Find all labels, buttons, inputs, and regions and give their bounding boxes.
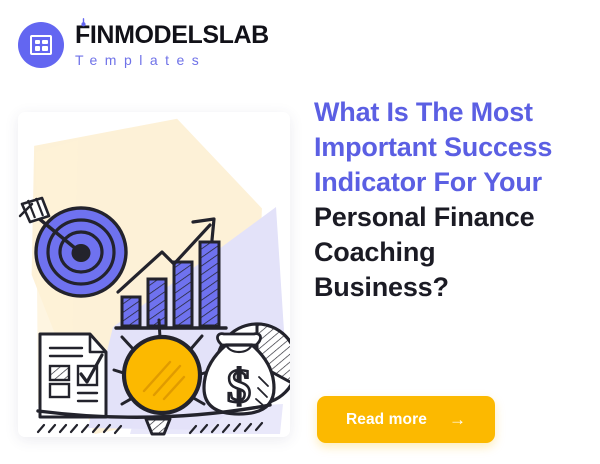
logo-mark — [18, 22, 64, 68]
svg-text:$: $ — [227, 360, 251, 413]
business-analytics-illustration: $ — [18, 112, 290, 437]
brand-text: FINMODELSLAB Templates — [75, 23, 269, 67]
headline-accent-line-3: Indicator For Your — [314, 165, 580, 200]
read-more-button[interactable]: Read more → — [317, 396, 495, 443]
brand-logo[interactable]: FINMODELSLAB Templates — [18, 22, 269, 68]
banner-page: FINMODELSLAB Templates — [0, 0, 600, 464]
document-checklist-icon — [40, 334, 106, 417]
read-more-label: Read more — [346, 411, 427, 429]
page-title: What Is The Most Important Success Indic… — [314, 95, 580, 306]
headline-accent-line-1: What Is The Most — [314, 95, 580, 130]
gold-coin-icon — [124, 337, 200, 413]
brand-tagline: Templates — [75, 53, 269, 67]
illustration-card: $ — [18, 112, 290, 437]
grid-icon — [30, 35, 52, 55]
headline-dark-line-2: Coaching — [314, 235, 580, 270]
brand-name: FINMODELSLAB — [75, 23, 269, 48]
arrow-right-icon: → — [449, 411, 466, 428]
headline-accent-line-2: Important Success — [314, 130, 580, 165]
headline-dark-line-1: Personal Finance — [314, 200, 580, 235]
headline-dark-line-3: Business? — [314, 270, 580, 305]
